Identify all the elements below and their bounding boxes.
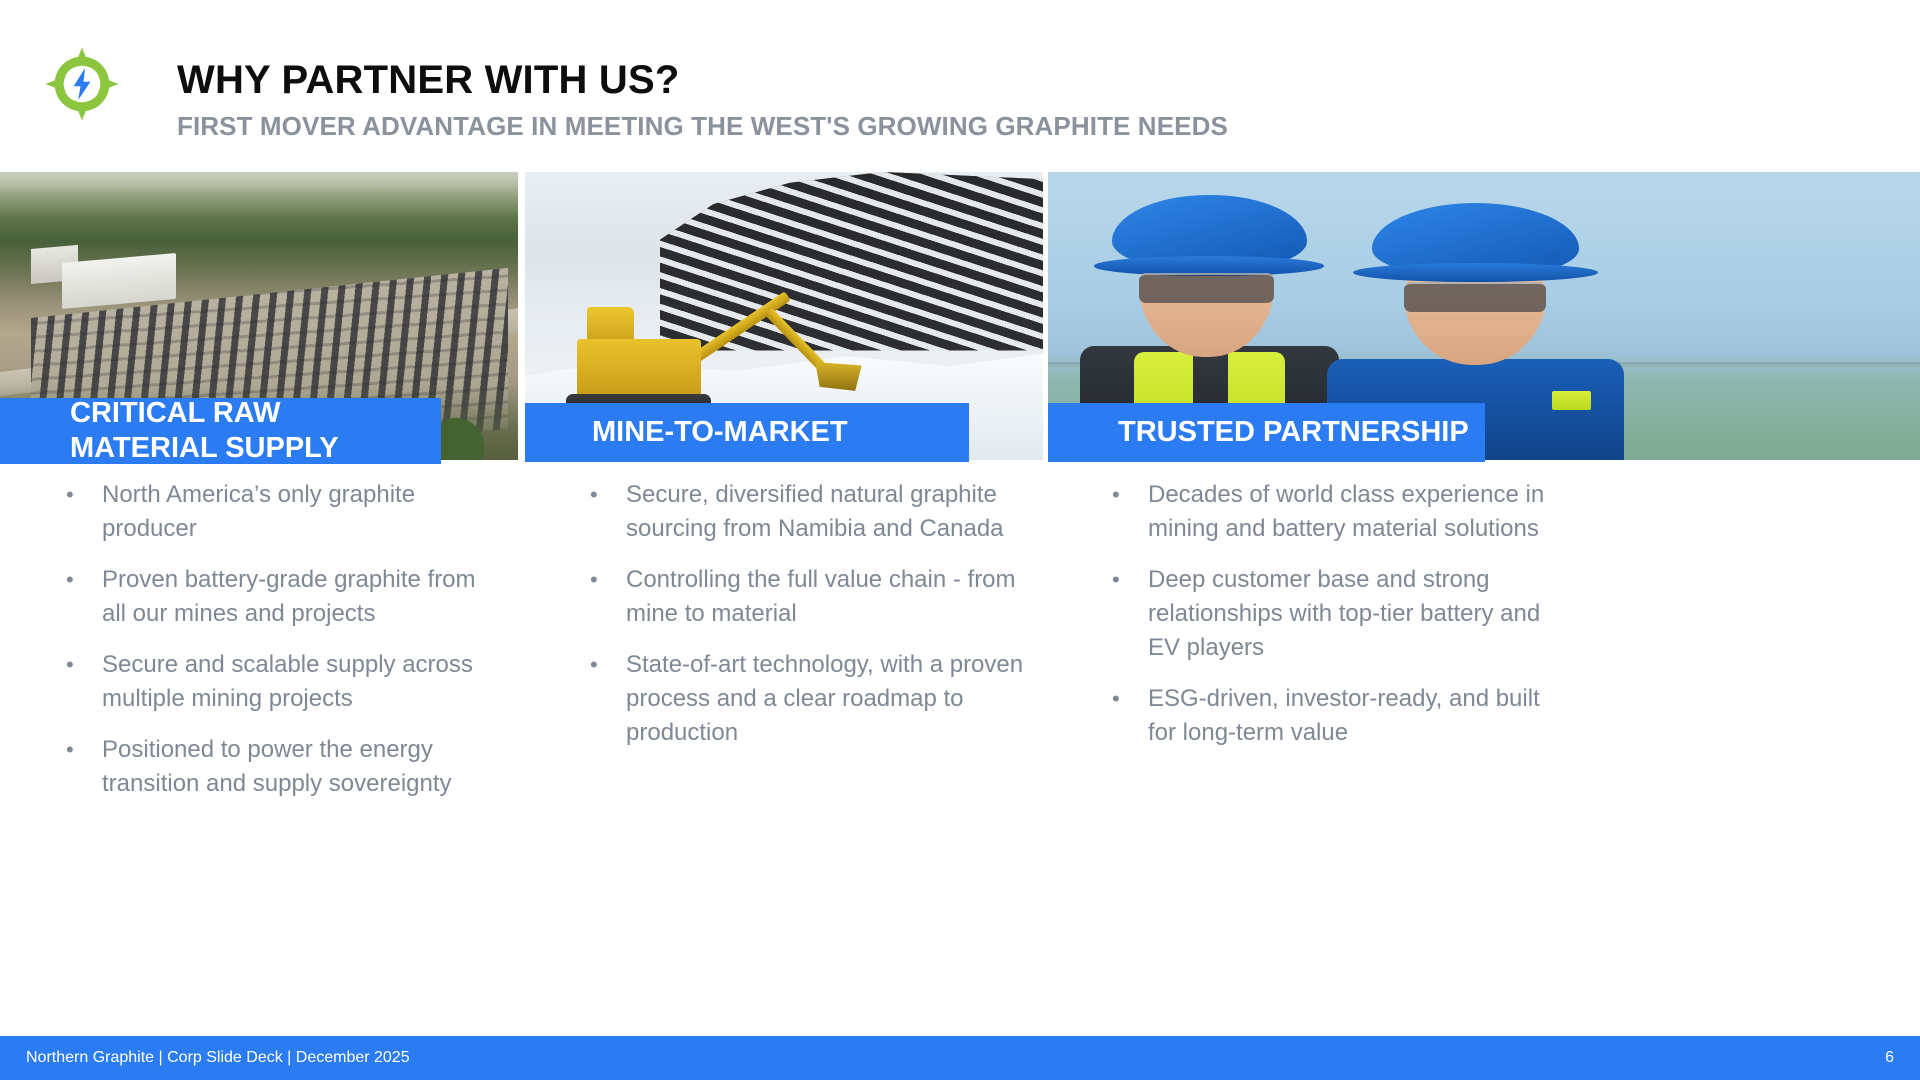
- compass-bolt-logo-icon: [44, 46, 120, 122]
- card-banner-line-1: MINE-TO-MARKET: [592, 416, 848, 449]
- bullet-icon: •: [1108, 682, 1148, 750]
- bullet-icon: •: [1108, 563, 1148, 665]
- bullet-icon: •: [586, 563, 626, 631]
- page-number: 6: [1885, 1049, 1894, 1067]
- bullet-icon: •: [1108, 478, 1148, 546]
- bullet-icon: •: [62, 478, 102, 546]
- list-item: • Deep customer base and strong relation…: [1108, 563, 1556, 665]
- title-block: WHY PARTNER WITH US? FIRST MOVER ADVANTA…: [177, 56, 1228, 143]
- bullet-list-trusted-partnership: • Decades of world class experience in m…: [1108, 478, 1556, 767]
- bullet-icon: •: [62, 648, 102, 716]
- page-title: WHY PARTNER WITH US?: [177, 56, 1228, 104]
- list-item: • State-of-art technology, with a proven…: [586, 648, 1026, 750]
- bullet-icon: •: [62, 733, 102, 801]
- list-item: • Controlling the full value chain - fro…: [586, 563, 1026, 631]
- list-item-text: Positioned to power the energy transitio…: [102, 733, 492, 801]
- list-item-text: Controlling the full value chain - from …: [626, 563, 1026, 631]
- list-item-text: Secure and scalable supply across multip…: [102, 648, 492, 716]
- bullet-icon: •: [586, 478, 626, 546]
- footer-text: Northern Graphite | Corp Slide Deck | De…: [26, 1049, 410, 1067]
- list-item: • Secure, diversified natural graphite s…: [586, 478, 1026, 546]
- list-item-text: ESG-driven, investor-ready, and built fo…: [1148, 682, 1556, 750]
- list-item-text: North America’s only graphite producer: [102, 478, 492, 546]
- card-banner-line-1: TRUSTED PARTNERSHIP: [1118, 416, 1469, 449]
- card-banner-line-1: CRITICAL RAW: [70, 396, 339, 431]
- bullet-icon: •: [62, 563, 102, 631]
- list-item-text: State-of-art technology, with a proven p…: [626, 648, 1026, 750]
- list-item: • Positioned to power the energy transit…: [62, 733, 492, 801]
- list-item-text: Secure, diversified natural graphite sou…: [626, 478, 1026, 546]
- bullet-columns: • North America’s only graphite producer…: [0, 478, 1920, 998]
- list-item: • North America’s only graphite producer: [62, 478, 492, 546]
- card-banner-line-2: MATERIAL SUPPLY: [70, 431, 339, 466]
- list-item-text: Decades of world class experience in min…: [1148, 478, 1556, 546]
- bullet-list-critical-raw-material-supply: • North America’s only graphite producer…: [62, 478, 492, 818]
- card-banner-mine-to-market: MINE-TO-MARKET: [525, 403, 969, 462]
- list-item: • Decades of world class experience in m…: [1108, 478, 1556, 546]
- list-item: • ESG-driven, investor-ready, and built …: [1108, 682, 1556, 750]
- slide-footer: Northern Graphite | Corp Slide Deck | De…: [0, 1036, 1920, 1080]
- list-item: • Secure and scalable supply across mult…: [62, 648, 492, 716]
- card-banner-trusted-partnership: TRUSTED PARTNERSHIP: [1048, 403, 1485, 462]
- bullet-list-mine-to-market: • Secure, diversified natural graphite s…: [586, 478, 1026, 767]
- list-item: • Proven battery-grade graphite from all…: [62, 563, 492, 631]
- bullet-icon: •: [586, 648, 626, 750]
- slide-root: WHY PARTNER WITH US? FIRST MOVER ADVANTA…: [0, 0, 1920, 1080]
- slide-header: WHY PARTNER WITH US? FIRST MOVER ADVANTA…: [0, 0, 1920, 172]
- list-item-text: Deep customer base and strong relationsh…: [1148, 563, 1556, 665]
- card-banner-critical-raw-material-supply: CRITICAL RAW MATERIAL SUPPLY: [0, 398, 441, 464]
- list-item-text: Proven battery-grade graphite from all o…: [102, 563, 492, 631]
- page-subtitle: FIRST MOVER ADVANTAGE IN MEETING THE WES…: [177, 109, 1228, 143]
